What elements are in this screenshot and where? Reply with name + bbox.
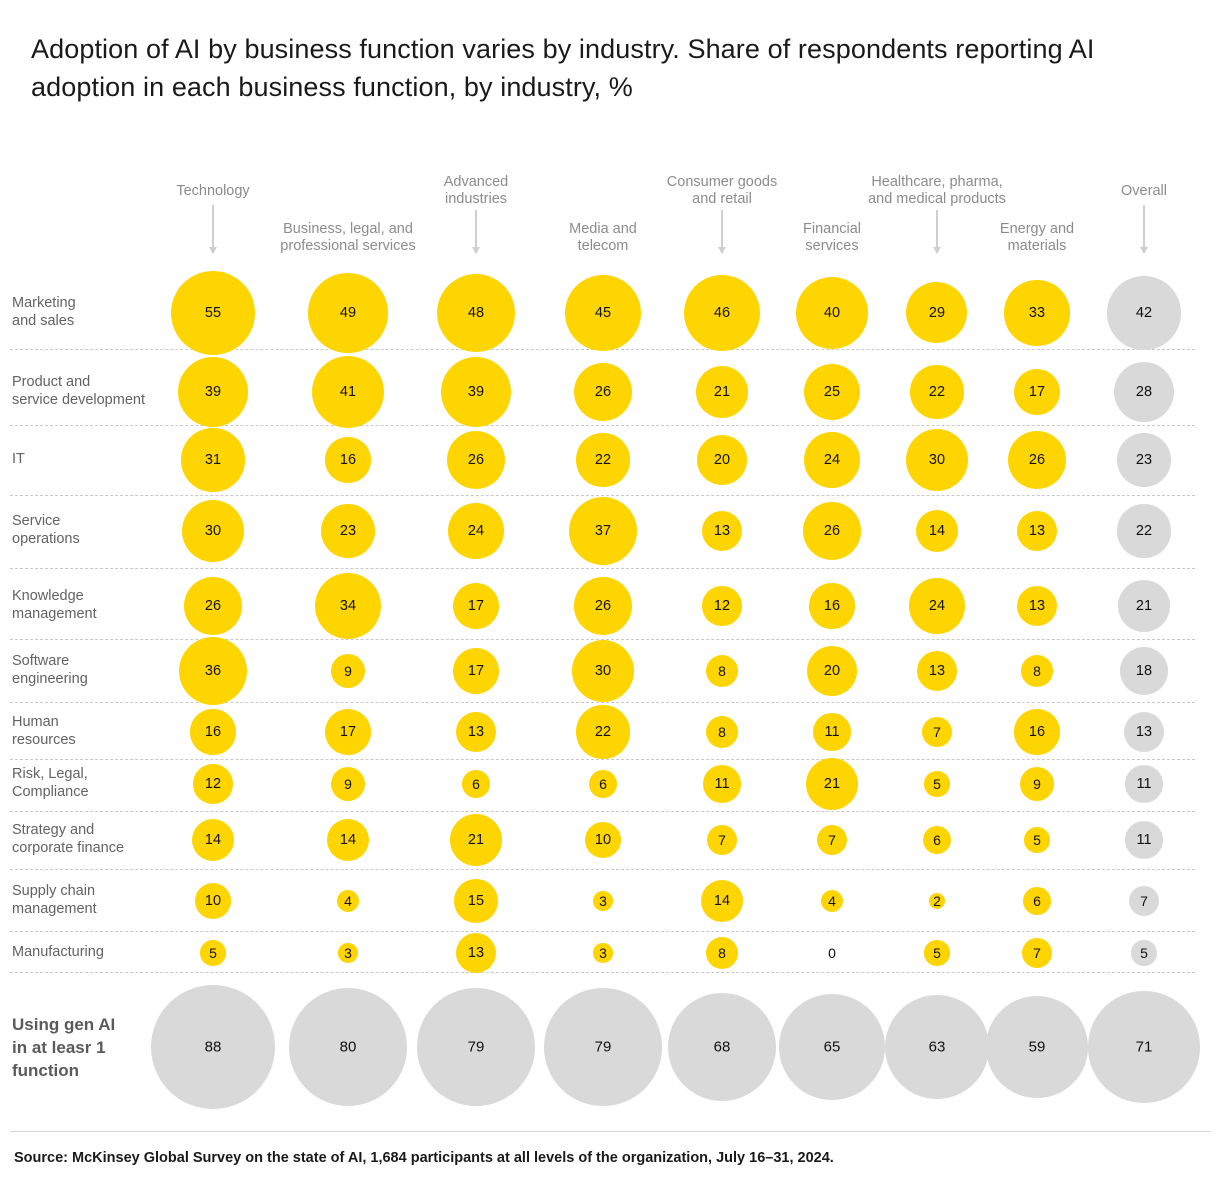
summary-bubble-cell[interactable]: 79 [417,988,534,1105]
bubble-value: 39 [205,385,221,400]
bubble-value: 30 [929,453,945,468]
summary-bubble-value: 68 [714,1038,731,1055]
summary-row-label-line: in at leasr 1 [12,1036,164,1059]
row-label-line: Compliance [12,783,162,801]
bubble-cell[interactable]: 7 [1129,886,1159,916]
bubble-cell[interactable]: 17 [453,648,500,695]
bubble-cell[interactable]: 21 [1118,580,1170,632]
bubble-value: 33 [1029,306,1045,321]
bubble-value: 6 [472,777,480,791]
bubble-cell[interactable]: 23 [1117,433,1171,487]
bubble-cell[interactable]: 17 [1014,369,1061,416]
bubble-cell[interactable]: 14 [701,880,743,922]
summary-row-label: Using gen AIin at leasr 1function [12,1013,164,1082]
bubble-cell[interactable]: 3 [593,943,613,963]
summary-row-label-line: function [12,1059,164,1082]
source-divider [10,1131,1211,1132]
bubble-value: 26 [595,385,611,400]
bubble-value: 16 [824,599,840,614]
bubble-value: 7 [718,833,726,847]
row-label-line: operations [12,530,162,548]
bubble-value: 13 [1136,725,1152,740]
column-header-line: Business, legal, and [218,221,478,238]
bubble-value: 8 [1033,664,1041,678]
bubble-value: 5 [209,946,217,960]
summary-bubble-cell[interactable]: 88 [151,985,275,1109]
bubble-cell[interactable]: 2 [929,893,945,909]
bubble-cell[interactable]: 40 [796,277,868,349]
bubble-cell[interactable]: 48 [437,274,515,352]
bubble-cell[interactable]: 31 [181,428,244,491]
column-header-line: professional services [218,238,478,255]
summary-bubble-value: 88 [205,1038,222,1055]
bubble-value: 13 [1029,599,1045,614]
bubble-value: 30 [595,664,611,679]
bubble-cell[interactable]: 22 [1117,504,1170,557]
bubble-value: 11 [1136,833,1151,848]
bubble-cell[interactable]: 26 [1008,431,1066,489]
bubble-value: 7 [828,833,836,847]
bubble-cell[interactable]: 13 [1124,712,1165,753]
bubble-value: 11 [824,725,839,740]
bubble-value: 6 [933,833,941,847]
bubble-value: 22 [595,453,611,468]
bubble-cell[interactable]: 12 [702,586,741,625]
row-label-line: management [12,900,162,918]
bubble-value: 8 [718,725,726,739]
bubble-cell[interactable]: 6 [1023,887,1051,915]
bubble-value: 8 [718,664,726,678]
bubble-value: 22 [595,725,611,740]
bubble-cell[interactable]: 23 [321,504,375,558]
bubble-value: 17 [468,664,484,679]
bubble-value: 21 [1136,599,1152,614]
bubble-value: 23 [340,524,356,539]
summary-bubble-value: 80 [340,1038,357,1055]
bubble-cell[interactable]: 16 [325,437,370,482]
bubble-cell[interactable]: 14 [192,819,234,861]
bubble-cell[interactable]: 24 [804,432,860,488]
bubble-value: 3 [599,894,607,908]
row-label-line: management [12,605,162,623]
bubble-cell[interactable]: 8 [706,716,738,748]
bubble-value: 14 [714,894,730,909]
bubble-cell[interactable]: 29 [906,282,967,343]
row-label-8: Risk, Legal,Compliance [12,765,162,801]
bubble-cell[interactable]: 5 [200,940,225,965]
bubble-value: 24 [824,453,840,468]
bubble-value: 3 [599,946,607,960]
summary-bubble-cell[interactable]: 63 [885,995,990,1100]
bubble-value: 12 [205,777,221,792]
bubble-cell[interactable]: 4 [821,890,844,913]
bubble-value: 29 [929,306,945,321]
bubble-value: 20 [824,664,840,679]
bubble-value: 22 [1136,524,1152,539]
bubble-cell[interactable]: 17 [453,583,500,630]
bubble-cell[interactable]: 45 [565,275,641,351]
bubble-cell[interactable]: 6 [462,770,490,798]
bubble-value: 48 [468,306,484,321]
bubble-cell[interactable]: 10 [195,883,231,919]
bubble-cell[interactable]: 15 [454,879,498,923]
bubble-cell[interactable]: 22 [576,705,629,758]
summary-bubble-cell[interactable]: 79 [544,988,661,1105]
bubble-cell[interactable]: 14 [916,510,958,552]
bubble-cell[interactable]: 18 [1120,647,1168,695]
bubble-cell[interactable]: 8 [706,655,738,687]
bubble-cell[interactable]: 26 [447,431,505,489]
bubble-cell[interactable]: 28 [1114,362,1174,422]
summary-bubble-cell[interactable]: 71 [1088,991,1199,1102]
row-label-line: Service [12,512,162,530]
bubble-value: 7 [1033,946,1041,960]
summary-bubble-value: 71 [1136,1038,1153,1055]
bubble-cell[interactable]: 36 [179,637,247,705]
bubble-value: 26 [468,453,484,468]
column-header-2: Business, legal, andprofessional service… [218,221,478,255]
column-header-4: Media andtelecom [473,221,733,255]
bubble-value: 49 [340,306,356,321]
bubble-value: 4 [828,894,836,908]
bubble-value: 5 [933,777,941,791]
row-separator [10,931,1195,932]
bubble-cell[interactable]: 5 [924,771,949,796]
row-label-9: Strategy andcorporate finance [12,821,162,857]
bubble-value: 24 [468,524,484,539]
bubble-value: 36 [205,664,221,679]
bubble-cell[interactable]: 6 [589,770,617,798]
bubble-value: 22 [929,385,945,400]
bubble-cell[interactable]: 24 [448,503,504,559]
bubble-value: 37 [595,524,611,539]
bubble-value: 18 [1136,664,1152,679]
bubble-value: 9 [344,664,352,678]
column-header-line: Overall [1014,183,1221,200]
bubble-cell[interactable]: 13 [702,511,743,552]
bubble-cell[interactable]: 5 [924,940,949,965]
bubble-cell[interactable]: 37 [569,497,638,566]
bubble-value: 3 [344,946,352,960]
row-separator [10,702,1195,703]
bubble-cell[interactable]: 7 [1022,938,1052,968]
bubble-value: 20 [714,453,730,468]
bubble-value: 30 [205,524,221,539]
row-label-line: resources [12,731,162,749]
bubble-value: 7 [933,725,941,739]
bubble-cell[interactable]: 5 [1024,827,1049,852]
bubble-value: 26 [595,599,611,614]
bubble-cell[interactable]: 4 [337,890,360,913]
bubble-cell[interactable]: 7 [707,825,737,855]
summary-bubble-cell[interactable]: 68 [668,993,777,1102]
column-header-line: Technology [83,183,343,200]
row-label-line: corporate finance [12,839,162,857]
bubble-value: 9 [344,777,352,791]
bubble-cell[interactable]: 41 [312,356,385,429]
bubble-cell[interactable]: 22 [576,433,629,486]
bubble-value: 26 [1029,453,1045,468]
bubble-cell[interactable]: 16 [809,583,854,628]
bubble-value: 45 [595,306,611,321]
row-label-line: Knowledge [12,587,162,605]
bubble-cell[interactable]: 13 [456,933,497,974]
column-header-8: Energy andmaterials [907,221,1167,255]
row-label-2: Product andservice development [12,373,162,409]
bubble-cell[interactable]: 33 [1004,280,1069,345]
summary-row-label-line: Using gen AI [12,1013,164,1036]
bubble-cell[interactable]: 39 [178,357,249,428]
bubble-cell[interactable]: 9 [331,654,365,688]
bubble-cell[interactable]: 11 [1125,821,1163,859]
bubble-cell[interactable]: 13 [1017,586,1058,627]
bubble-cell[interactable]: 13 [1017,511,1058,552]
row-label-line: Human [12,713,162,731]
bubble-cell[interactable]: 3 [593,891,613,911]
bubble-value: 34 [340,599,356,614]
summary-bubble-cell[interactable]: 59 [986,996,1087,1097]
bubble-value: 11 [1136,777,1151,792]
bubble-value: 13 [468,946,484,961]
bubble-value: 9 [1033,777,1041,791]
bubble-value: 15 [468,894,484,909]
row-label-line: Product and [12,373,162,391]
summary-bubble-value: 65 [824,1038,841,1055]
bubble-cell[interactable]: 13 [456,712,497,753]
column-header-line: materials [907,238,1167,255]
summary-bubble-cell[interactable]: 80 [289,988,407,1106]
bubble-cell[interactable]: 55 [171,271,255,355]
bubble-cell[interactable]: 30 [572,640,634,702]
bubble-value: 24 [929,599,945,614]
bubble-value: 42 [1136,306,1152,321]
bubble-value: 17 [340,725,356,740]
column-header-line: Advanced [346,174,606,191]
summary-bubble-value: 59 [1029,1038,1046,1055]
bubble-cell[interactable]: 5 [1131,940,1156,965]
bubble-cell[interactable]: 22 [910,365,963,418]
summary-bubble-value: 79 [595,1038,612,1055]
bubble-cell[interactable]: 11 [813,713,851,751]
bubble-cell[interactable]: 30 [182,500,244,562]
row-label-7: Humanresources [12,713,162,749]
row-label-6: Softwareengineering [12,652,162,688]
bubble-value: 55 [205,306,221,321]
bubble-cell[interactable]: 16 [1014,709,1059,754]
bubble-cell[interactable]: 34 [315,573,381,639]
row-label-line: Strategy and [12,821,162,839]
bubble-cell[interactable]: 8 [706,937,738,969]
bubble-cell[interactable]: 9 [1020,767,1054,801]
bubble-value: 16 [1029,725,1045,740]
column-header-line: Media and [473,221,733,238]
bubble-cell[interactable]: 20 [697,435,748,486]
bubble-value: 21 [824,777,840,792]
bubble-cell[interactable]: 13 [917,651,958,692]
bubble-value: 21 [714,385,730,400]
bubble-cell[interactable]: 42 [1107,276,1180,349]
bubble-value: 23 [1136,453,1152,468]
chart-title: Adoption of AI by business function vari… [31,30,1151,106]
bubble-value: 8 [718,946,726,960]
bubble-value: 21 [468,833,484,848]
row-label-line: engineering [12,670,162,688]
row-separator [10,495,1195,496]
row-separator [10,869,1195,870]
row-label-line: service development [12,391,162,409]
row-separator [10,425,1195,426]
row-label-1: Marketingand sales [12,294,162,330]
bubble-cell[interactable]: 49 [308,273,387,352]
row-label-line: IT [12,450,162,468]
bubble-cell[interactable]: 25 [804,364,861,421]
bubble-cell[interactable]: 7 [922,717,952,747]
row-separator [10,568,1195,569]
bubble-cell[interactable]: 24 [909,578,965,634]
bubble-value: 26 [824,524,840,539]
column-header-line: industries [346,191,606,208]
bubble-value: 5 [933,946,941,960]
summary-bubble-cell[interactable]: 65 [779,994,885,1100]
row-label-line: Manufacturing [12,943,162,961]
column-header-line: telecom [473,238,733,255]
bubble-value: 31 [205,453,221,468]
bubble-cell[interactable]: 21 [696,366,748,418]
bubble-value: 5 [1033,833,1041,847]
bubble-value: 14 [340,833,356,848]
bubble-cell[interactable]: 30 [906,429,968,491]
bubble-value: 25 [824,385,840,400]
bubble-cell[interactable]: 9 [331,767,365,801]
bubble-value: 40 [824,306,840,321]
bubble-cell[interactable]: 10 [585,822,621,858]
bubble-value: 10 [205,894,221,909]
bubble-value: 17 [1029,385,1045,400]
bubble-cell[interactable]: 11 [703,765,741,803]
row-separator [10,972,1195,973]
row-label-11: Manufacturing [12,943,162,961]
bubble-cell[interactable]: 21 [806,758,858,810]
row-label-line: Marketing [12,294,162,312]
column-pointer-arrow-icon [1143,205,1145,253]
bubble-value: 5 [1140,946,1148,960]
column-header-1: Technology [83,183,343,200]
bubble-cell[interactable]: 20 [807,646,858,697]
bubble-value: 4 [344,894,352,908]
bubble-value: 13 [714,524,730,539]
column-header-9: Overall [1014,183,1221,200]
bubble-cell[interactable]: 8 [1021,655,1053,687]
bubble-cell[interactable]: 17 [325,709,372,756]
bubble-value: 10 [595,833,611,848]
row-separator [10,811,1195,812]
bubble-value: 6 [1033,894,1041,908]
row-label-line: and sales [12,312,162,330]
bubble-cell[interactable]: 12 [193,764,232,803]
row-label-5: Knowledgemanagement [12,587,162,623]
bubble-cell[interactable]: 21 [450,814,502,866]
bubble-value: 14 [929,524,945,539]
bubble-cell[interactable]: 6 [923,826,951,854]
bubble-cell[interactable]: 39 [441,357,512,428]
bubble-value: 16 [205,725,221,740]
row-label-line: Risk, Legal, [12,765,162,783]
column-header-3: Advancedindustries [346,174,606,208]
bubble-value: 16 [340,453,356,468]
bubble-cell[interactable]: 26 [574,363,632,421]
bubble-value: 13 [929,664,945,679]
bubble-cell[interactable]: 26 [574,577,632,635]
bubble-value: 12 [714,599,730,614]
summary-bubble-value: 63 [929,1038,946,1055]
row-label-4: Serviceoperations [12,512,162,548]
bubble-cell[interactable]: 26 [803,502,861,560]
column-header-line: Energy and [907,221,1167,238]
bubble-value: 0 [828,946,836,960]
row-label-3: IT [12,450,162,468]
row-label-line: Software [12,652,162,670]
bubble-cell[interactable]: 14 [327,819,369,861]
column-pointer-arrow-icon [212,205,214,253]
bubble-value: 11 [714,777,729,792]
bubble-value: 7 [1140,894,1148,908]
bubble-value: 46 [714,306,730,321]
source-note: Source: McKinsey Global Survey on the st… [14,1150,834,1166]
bubble-value: 2 [933,894,941,908]
bubble-cell[interactable]: 26 [184,577,242,635]
chart-root: Adoption of AI by business function vari… [0,0,1221,1197]
row-label-line: Supply chain [12,882,162,900]
bubble-value: 13 [1029,524,1045,539]
summary-bubble-value: 79 [468,1038,485,1055]
row-label-10: Supply chainmanagement [12,882,162,918]
bubble-value: 14 [205,833,221,848]
bubble-value: 39 [468,385,484,400]
bubble-value: 17 [468,599,484,614]
bubble-value: 28 [1136,385,1152,400]
row-separator [10,759,1195,760]
bubble-value: 26 [205,599,221,614]
bubble-cell[interactable]: 11 [1125,765,1163,803]
bubble-cell[interactable]: 7 [817,825,847,855]
bubble-value: 6 [599,777,607,791]
bubble-value: 41 [340,385,356,400]
bubble-cell[interactable]: 16 [190,709,235,754]
bubble-cell[interactable]: 46 [684,275,761,352]
bubble-cell[interactable]: 3 [338,943,358,963]
bubble-value: 13 [468,725,484,740]
